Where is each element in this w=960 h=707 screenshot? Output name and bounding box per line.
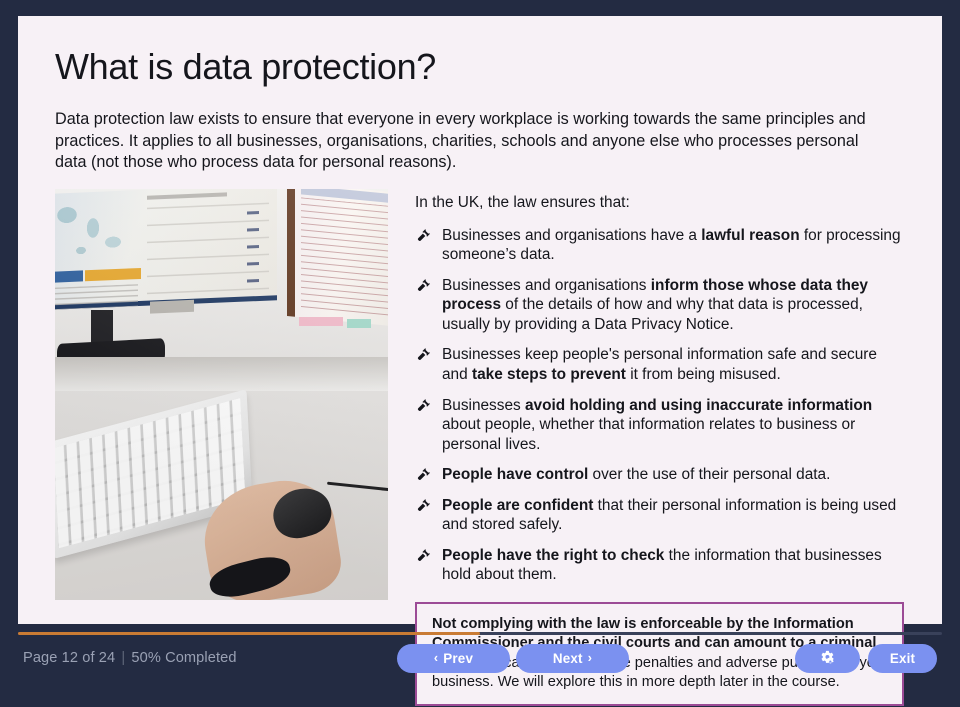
intro-paragraph: Data protection law exists to ensure tha… xyxy=(55,109,879,173)
photo-trend-arrows xyxy=(247,207,259,294)
course-progress-track[interactable] xyxy=(18,632,942,635)
photo-green-cell xyxy=(347,319,371,328)
completion-label: 50% Completed xyxy=(131,650,236,666)
photo-monitor-right xyxy=(287,189,388,326)
law-point-text: People have control over the use of thei… xyxy=(442,466,830,483)
law-point-text: People have the right to check the infor… xyxy=(442,547,882,584)
gavel-icon xyxy=(416,498,433,514)
course-progress-fill xyxy=(18,632,480,635)
page-status: Page 12 of 24 | 50% Completed xyxy=(23,650,237,666)
law-point-text: Businesses and organisations inform thos… xyxy=(442,277,868,333)
law-point-item: People have control over the use of thei… xyxy=(415,465,904,485)
law-point-text: People are confident that their personal… xyxy=(442,497,896,534)
photo-blue-bar xyxy=(55,270,83,282)
workplace-photo xyxy=(55,189,388,600)
photo-desk-edge xyxy=(55,357,388,391)
chevron-left-icon: ‹ xyxy=(434,652,438,665)
gavel-icon xyxy=(416,467,433,483)
law-point-text: Businesses and organisations have a lawf… xyxy=(442,227,901,264)
law-point-item: People have the right to check the infor… xyxy=(415,546,904,585)
player-toolbar: Page 12 of 24 | 50% Completed ‹ Prev Nex… xyxy=(0,640,960,707)
exit-button[interactable]: Exit xyxy=(868,644,937,673)
gavel-icon xyxy=(416,398,433,414)
gavel-icon xyxy=(416,548,433,564)
status-separator: | xyxy=(119,650,127,666)
exit-button-label: Exit xyxy=(890,651,915,666)
photo-monitor-left xyxy=(55,189,277,310)
law-point-text: Businesses keep people's personal inform… xyxy=(442,346,877,383)
photo-world-map-widget xyxy=(55,196,131,265)
law-point-item: Businesses and organisations have a lawf… xyxy=(415,226,904,265)
gavel-icon xyxy=(416,278,433,294)
course-player: What is data protection? Data protection… xyxy=(0,0,960,707)
text-column: In the UK, the law ensures that: Busines… xyxy=(415,189,904,706)
law-points-list: Businesses and organisations have a lawf… xyxy=(415,226,904,585)
list-lead-line: In the UK, the law ensures that: xyxy=(415,193,904,213)
gavel-icon xyxy=(416,228,433,244)
next-button-label: Next xyxy=(553,651,583,666)
media-column xyxy=(55,189,388,600)
page-counter-label: Page 12 of 24 xyxy=(23,650,115,666)
prev-button-label: Prev xyxy=(443,651,473,666)
photo-dashboard-button xyxy=(150,299,194,313)
law-point-text: Businesses avoid holding and using inacc… xyxy=(442,397,872,453)
photo-yellow-bar xyxy=(85,268,141,281)
slide-card: What is data protection? Data protection… xyxy=(18,16,942,624)
law-point-item: Businesses keep people's personal inform… xyxy=(415,345,904,384)
next-button[interactable]: Next › xyxy=(516,644,629,673)
page-title: What is data protection? xyxy=(55,46,904,88)
law-point-item: Businesses avoid holding and using inacc… xyxy=(415,396,904,455)
gavel-icon xyxy=(416,347,433,363)
photo-text-block xyxy=(55,284,138,310)
law-point-item: Businesses and organisations inform thos… xyxy=(415,276,904,335)
settings-button[interactable] xyxy=(795,644,860,673)
chevron-right-icon: › xyxy=(588,652,592,665)
photo-spreadsheet-rows xyxy=(301,197,388,317)
prev-button[interactable]: ‹ Prev xyxy=(397,644,510,673)
content-row: In the UK, the law ensures that: Busines… xyxy=(55,189,904,706)
cogs-icon xyxy=(818,649,837,668)
law-point-item: People are confident that their personal… xyxy=(415,496,904,535)
photo-pink-cell xyxy=(299,317,343,326)
